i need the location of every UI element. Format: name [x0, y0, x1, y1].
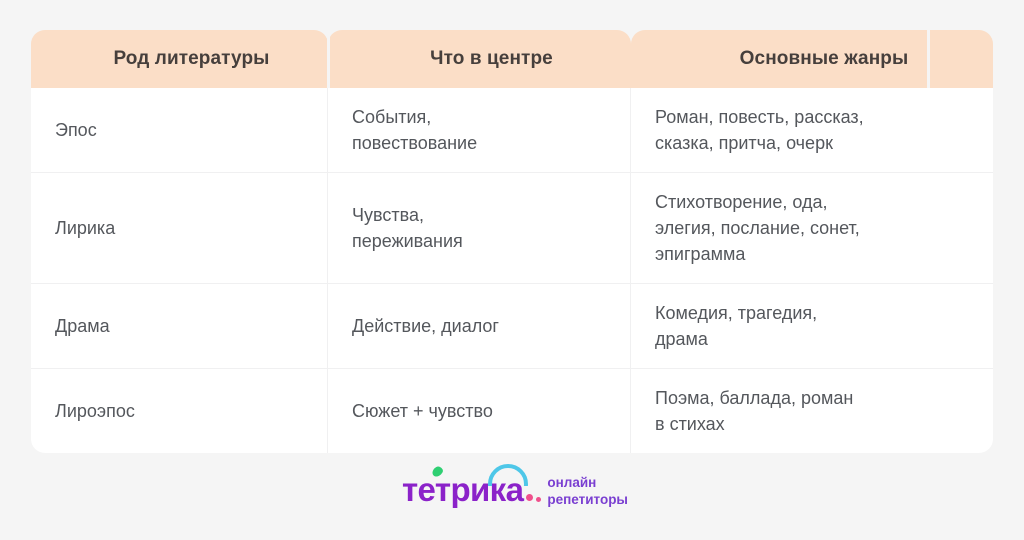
- cell-text: Роман, повесть, рассказ,сказка, притча, …: [655, 104, 975, 156]
- logo-tagline-dot-icon: [536, 497, 541, 502]
- table-header-row: Род литературы Что в центре Основные жан…: [31, 30, 993, 88]
- cell-text: Лироэпос: [55, 398, 301, 424]
- cell-text: Стихотворение, ода,элегия, послание, сон…: [655, 189, 975, 267]
- logo-tagline-line-1: онлайн: [547, 474, 628, 491]
- table-body: Эпос События,повествование Роман, повест…: [31, 88, 993, 453]
- logo-dot-icon: [526, 494, 533, 501]
- cell-genres: Комедия, трагедия,драма: [631, 284, 993, 369]
- table-row: Эпос События,повествование Роман, повест…: [31, 88, 993, 173]
- comparison-table-card: Род литературы Что в центре Основные жан…: [31, 30, 993, 453]
- cell-centre: Чувства,переживания: [328, 173, 631, 284]
- cell-centre: Действие, диалог: [328, 284, 631, 369]
- table-row: Лирика Чувства,переживания Стихотворение…: [31, 173, 993, 284]
- cell-text: События,повествование: [352, 104, 604, 156]
- literature-genres-table: Род литературы Что в центре Основные жан…: [31, 30, 993, 453]
- cell-text: Поэма, баллада, романв стихах: [655, 385, 975, 437]
- cell-genres: Роман, повесть, рассказ,сказка, притча, …: [631, 88, 993, 173]
- header-gap-divider-2: [927, 30, 930, 88]
- table-row: Драма Действие, диалог Комедия, трагедия…: [31, 284, 993, 369]
- logo-wordmark: тетрика: [402, 473, 533, 507]
- cell-text: Действие, диалог: [352, 313, 604, 339]
- logo-tagline: онлайн репетиторы: [547, 474, 628, 508]
- cell-centre: События,повествование: [328, 88, 631, 173]
- column-header-label: Что в центре: [352, 47, 631, 71]
- cell-text: Драма: [55, 313, 301, 339]
- logo-tagline-line-2-wrap: репетиторы: [547, 491, 628, 508]
- table-header: Род литературы Что в центре Основные жан…: [31, 30, 993, 88]
- cell-rod: Лироэпос: [31, 369, 328, 453]
- cell-centre: Сюжет + чувство: [328, 369, 631, 453]
- cell-rod: Лирика: [31, 173, 328, 284]
- column-header-label: Основные жанры: [655, 47, 993, 71]
- tetrika-logo: тетрика онлайн репетиторы: [402, 470, 628, 510]
- logo-tagline-line-2: репетиторы: [547, 492, 628, 507]
- column-header-osnovnye-zhanry: Основные жанры: [631, 30, 993, 88]
- column-header-chto-v-centre: Что в центре: [328, 30, 631, 88]
- cell-text: Сюжет + чувство: [352, 398, 604, 424]
- page-root: Род литературы Что в центре Основные жан…: [0, 0, 1024, 540]
- header-gap-divider-1: [327, 30, 330, 88]
- column-header-label: Род литературы: [55, 47, 328, 71]
- cell-text: Эпос: [55, 117, 301, 143]
- cell-text: Лирика: [55, 215, 301, 241]
- table-row: Лироэпос Сюжет + чувство Поэма, баллада,…: [31, 369, 993, 453]
- cell-text: Чувства,переживания: [352, 202, 604, 254]
- cell-genres: Стихотворение, ода,элегия, послание, сон…: [631, 173, 993, 284]
- cell-rod: Драма: [31, 284, 328, 369]
- cell-rod: Эпос: [31, 88, 328, 173]
- cell-genres: Поэма, баллада, романв стихах: [631, 369, 993, 453]
- column-header-rod-literatury: Род литературы: [31, 30, 328, 88]
- arc-accent-icon: [488, 464, 528, 486]
- cell-text: Комедия, трагедия,драма: [655, 300, 975, 352]
